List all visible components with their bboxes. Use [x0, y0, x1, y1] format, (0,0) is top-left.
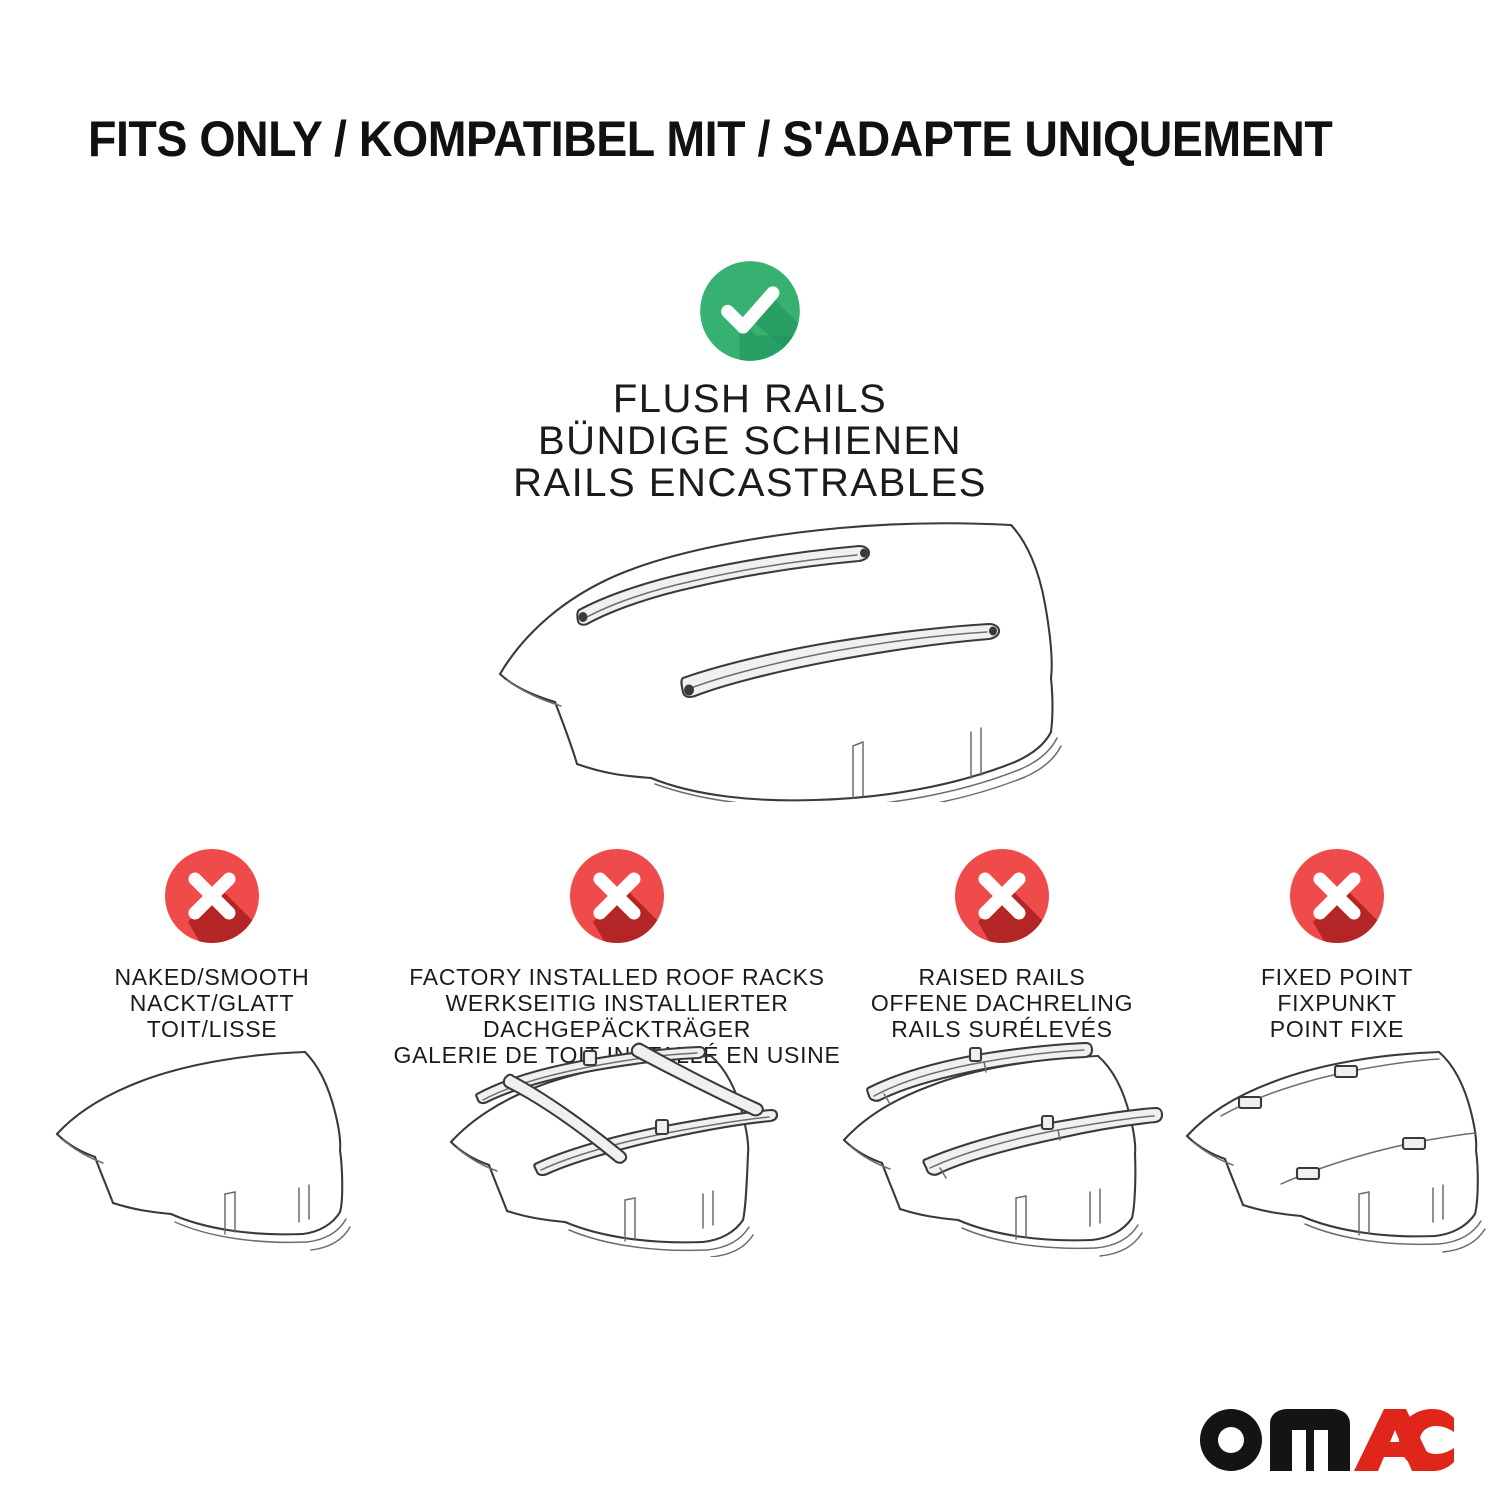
column-label-fr: TOIT/LISSE [32, 1016, 392, 1042]
car-roof-raised-rails-illustration [832, 1042, 1172, 1257]
column-label-fr: POINT FIXE [1182, 1016, 1492, 1042]
page-title: FITS ONLY / KOMPATIBEL MIT / S'ADAPTE UN… [88, 110, 1332, 168]
column-label-fr: RAILS SURÉLEVÉS [842, 1016, 1162, 1042]
column-label-group: RAISED RAILS OFFENE DACHRELING RAILS SUR… [842, 964, 1162, 1042]
compatible-section: FLUSH RAILS BÜNDIGE SCHIENEN RAILS ENCAS… [0, 258, 1500, 504]
x-circle-icon [1287, 846, 1387, 946]
car-roof-fixed-point-illustration [1177, 1042, 1497, 1257]
x-circle-icon [567, 846, 667, 946]
compatibility-infographic: FITS ONLY / KOMPATIBEL MIT / S'ADAPTE UN… [0, 0, 1500, 1500]
brand-logo [1194, 1400, 1462, 1472]
compatible-label-en: FLUSH RAILS [0, 378, 1500, 420]
incompatible-column-raised-rails: RAISED RAILS OFFENE DACHRELING RAILS SUR… [842, 846, 1162, 1042]
incompatible-column-naked-smooth: NAKED/SMOOTH NACKT/GLATT TOIT/LISSE [32, 846, 392, 1042]
column-label-de-1: WERKSEITIG INSTALLIERTER [382, 990, 852, 1016]
car-roof-factory-racks-illustration [437, 1042, 797, 1257]
compatible-label-de: BÜNDIGE SCHIENEN [0, 420, 1500, 462]
column-label-de: NACKT/GLATT [32, 990, 392, 1016]
omac-logo-mark [1194, 1400, 1462, 1472]
incompatible-section: NAKED/SMOOTH NACKT/GLATT TOIT/LISSE [0, 846, 1500, 1486]
column-label-de-2: DACHGEPÄCKTRÄGER [382, 1016, 852, 1042]
x-circle-icon [162, 846, 262, 946]
column-label-group: FIXED POINT FIXPUNKT POINT FIXE [1182, 964, 1492, 1042]
column-label-de: FIXPUNKT [1182, 990, 1492, 1016]
incompatible-column-fixed-point: FIXED POINT FIXPUNKT POINT FIXE [1182, 846, 1492, 1042]
x-circle-icon [952, 846, 1052, 946]
column-label-en: FIXED POINT [1182, 964, 1492, 990]
car-roof-flush-rails-illustration [455, 492, 1075, 802]
check-circle-icon [697, 258, 803, 364]
column-label-en: RAISED RAILS [842, 964, 1162, 990]
column-label-de: OFFENE DACHRELING [842, 990, 1162, 1016]
incompatible-column-factory-roof-racks: FACTORY INSTALLED ROOF RACKS WERKSEITIG … [382, 846, 852, 1068]
column-label-en: NAKED/SMOOTH [32, 964, 392, 990]
column-label-en: FACTORY INSTALLED ROOF RACKS [382, 964, 852, 990]
column-label-group: NAKED/SMOOTH NACKT/GLATT TOIT/LISSE [32, 964, 392, 1042]
car-roof-naked-illustration [47, 1042, 377, 1257]
compatible-label-group: FLUSH RAILS BÜNDIGE SCHIENEN RAILS ENCAS… [0, 378, 1500, 504]
